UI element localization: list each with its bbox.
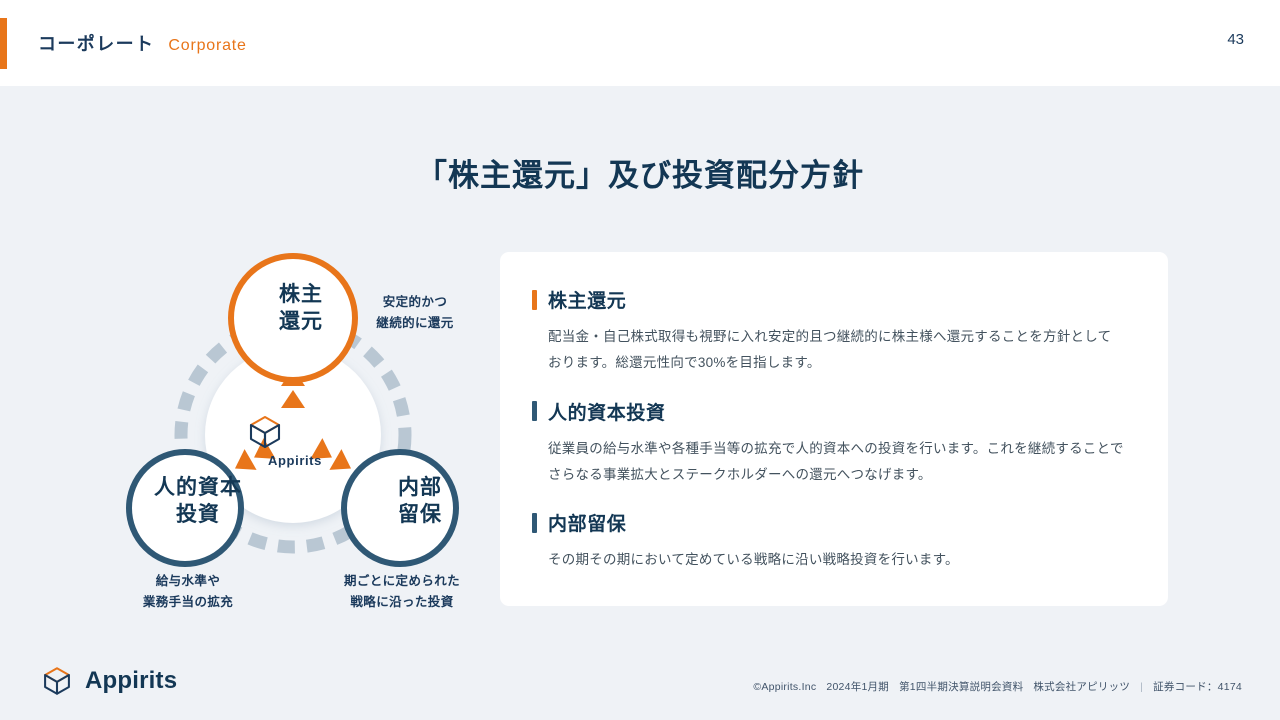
- section-heading: 人的資本投資: [532, 398, 1124, 425]
- section-title: 内部留保: [548, 509, 626, 536]
- section-accent-bar: [532, 513, 537, 533]
- section-title: 株主還元: [548, 286, 626, 313]
- node-note-shareholder-return: 安定的かつ 継続的に還元: [340, 292, 490, 333]
- node-label-line1: 内部: [350, 475, 490, 502]
- section-heading: 株主還元: [532, 286, 1124, 313]
- footer-logo: Appirits: [40, 664, 177, 698]
- header-accent-bar: [0, 18, 7, 69]
- section-body: その期その期において定めている戦略に沿い戦略投資を行います。: [532, 547, 1124, 573]
- section-title: 人的資本投資: [548, 398, 666, 425]
- header-category-en: Corporate: [168, 37, 246, 55]
- appirits-cube-icon: [245, 412, 285, 452]
- node-label-internal-reserve: 内部 留保: [350, 475, 490, 529]
- node-note-human-capital-investment: 給与水準や 業務手当の拡充: [108, 571, 268, 612]
- page-number: 43: [1227, 31, 1244, 48]
- node-note-line2: 戦略に沿った投資: [312, 592, 492, 613]
- section-body: 配当金・自己株式取得も視野に入れ安定的且つ継続的に株主様へ還元することを方針とし…: [532, 324, 1124, 377]
- center-brand: Appirits: [245, 412, 345, 468]
- policy-section-human-capital-investment: 人的資本投資 従業員の給与水準や各種手当等の拡充で人的資本への投資を行います。こ…: [532, 398, 1124, 489]
- page-title: 「株主還元」及び投資配分方針: [0, 150, 1280, 195]
- footer-security-code: 証券コード：4174: [1153, 679, 1242, 694]
- node-label-line1: 人的資本: [128, 475, 268, 502]
- node-note-line2: 継続的に還元: [340, 313, 490, 334]
- policy-section-internal-reserve: 内部留保 その期その期において定めている戦略に沿い戦略投資を行います。: [532, 509, 1124, 573]
- node-label-line2: 留保: [350, 502, 490, 529]
- investment-allocation-diagram: Appirits 株主 還元 人的資本 投資 内部 留保 安定的かつ 継続的に還…: [100, 240, 490, 630]
- header-title-group: コーポレート Corporate: [38, 30, 247, 56]
- node-note-internal-reserve: 期ごとに定められた 戦略に沿った投資: [312, 571, 492, 612]
- footer-fiscal-period: 2024年1月期: [826, 679, 889, 694]
- node-label-line2: 投資: [128, 502, 268, 529]
- section-body: 従業員の給与水準や各種手当等の拡充で人的資本への投資を行います。これを継続するこ…: [532, 436, 1124, 489]
- slide-header: コーポレート Corporate 43: [0, 0, 1280, 86]
- footer-company: 株式会社アピリッツ: [1033, 679, 1130, 694]
- appirits-cube-icon: [40, 664, 74, 698]
- footer-divider: |: [1140, 681, 1143, 693]
- section-accent-bar: [532, 401, 537, 421]
- node-note-line1: 給与水準や: [108, 571, 268, 592]
- footer-copyright: ©Appirits.Inc: [753, 681, 816, 693]
- footer-meta: ©Appirits.Inc 2024年1月期 第1四半期決算説明会資料 株式会社…: [753, 679, 1242, 694]
- header-category-ja: コーポレート: [38, 30, 154, 56]
- footer-logo-wordmark: Appirits: [85, 667, 177, 695]
- section-accent-bar: [532, 290, 537, 310]
- node-note-line2: 業務手当の拡充: [108, 592, 268, 613]
- footer-document-name: 第1四半期決算説明会資料: [899, 679, 1023, 694]
- policy-section-shareholder-return: 株主還元 配当金・自己株式取得も視野に入れ安定的且つ継続的に株主様へ還元すること…: [532, 286, 1124, 377]
- node-note-line1: 安定的かつ: [340, 292, 490, 313]
- node-label-human-capital-investment: 人的資本 投資: [128, 475, 268, 529]
- section-heading: 内部留保: [532, 509, 1124, 536]
- node-note-line1: 期ごとに定められた: [312, 571, 492, 592]
- policy-detail-card: 株主還元 配当金・自己株式取得も視野に入れ安定的且つ継続的に株主様へ還元すること…: [500, 252, 1168, 606]
- center-brand-label: Appirits: [245, 453, 345, 468]
